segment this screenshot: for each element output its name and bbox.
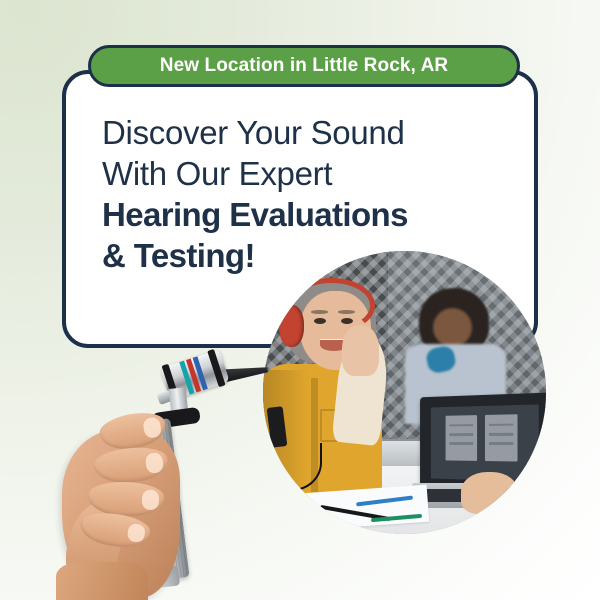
fingernail (145, 453, 164, 473)
hand-wrist (56, 562, 148, 600)
headline-line-2: With Our Expert (102, 153, 512, 194)
screen-document-right (484, 415, 517, 462)
fingernail (142, 417, 162, 439)
laptop-screen (431, 405, 539, 482)
advertisement-canvas: Discover Your Sound With Our Expert Hear… (0, 0, 600, 600)
badge-label: New Location in Little Rock, AR (160, 55, 448, 77)
screen-document-left (446, 416, 477, 462)
fingernail (142, 490, 160, 510)
headline-line-1: Discover Your Sound (102, 112, 512, 153)
fingernail (127, 523, 146, 543)
status-badge: New Location in Little Rock, AR (88, 45, 520, 87)
headphone-earcup (279, 305, 304, 347)
otoscope-ring-right (207, 349, 225, 387)
photo-inner (263, 251, 546, 534)
hearing-test-photo (263, 251, 546, 534)
patient-raised-hand (342, 325, 379, 376)
headline-line-3: Hearing Evaluations (102, 194, 512, 235)
technician-typing-hand (461, 472, 518, 514)
otoscope-in-hand (62, 352, 292, 600)
